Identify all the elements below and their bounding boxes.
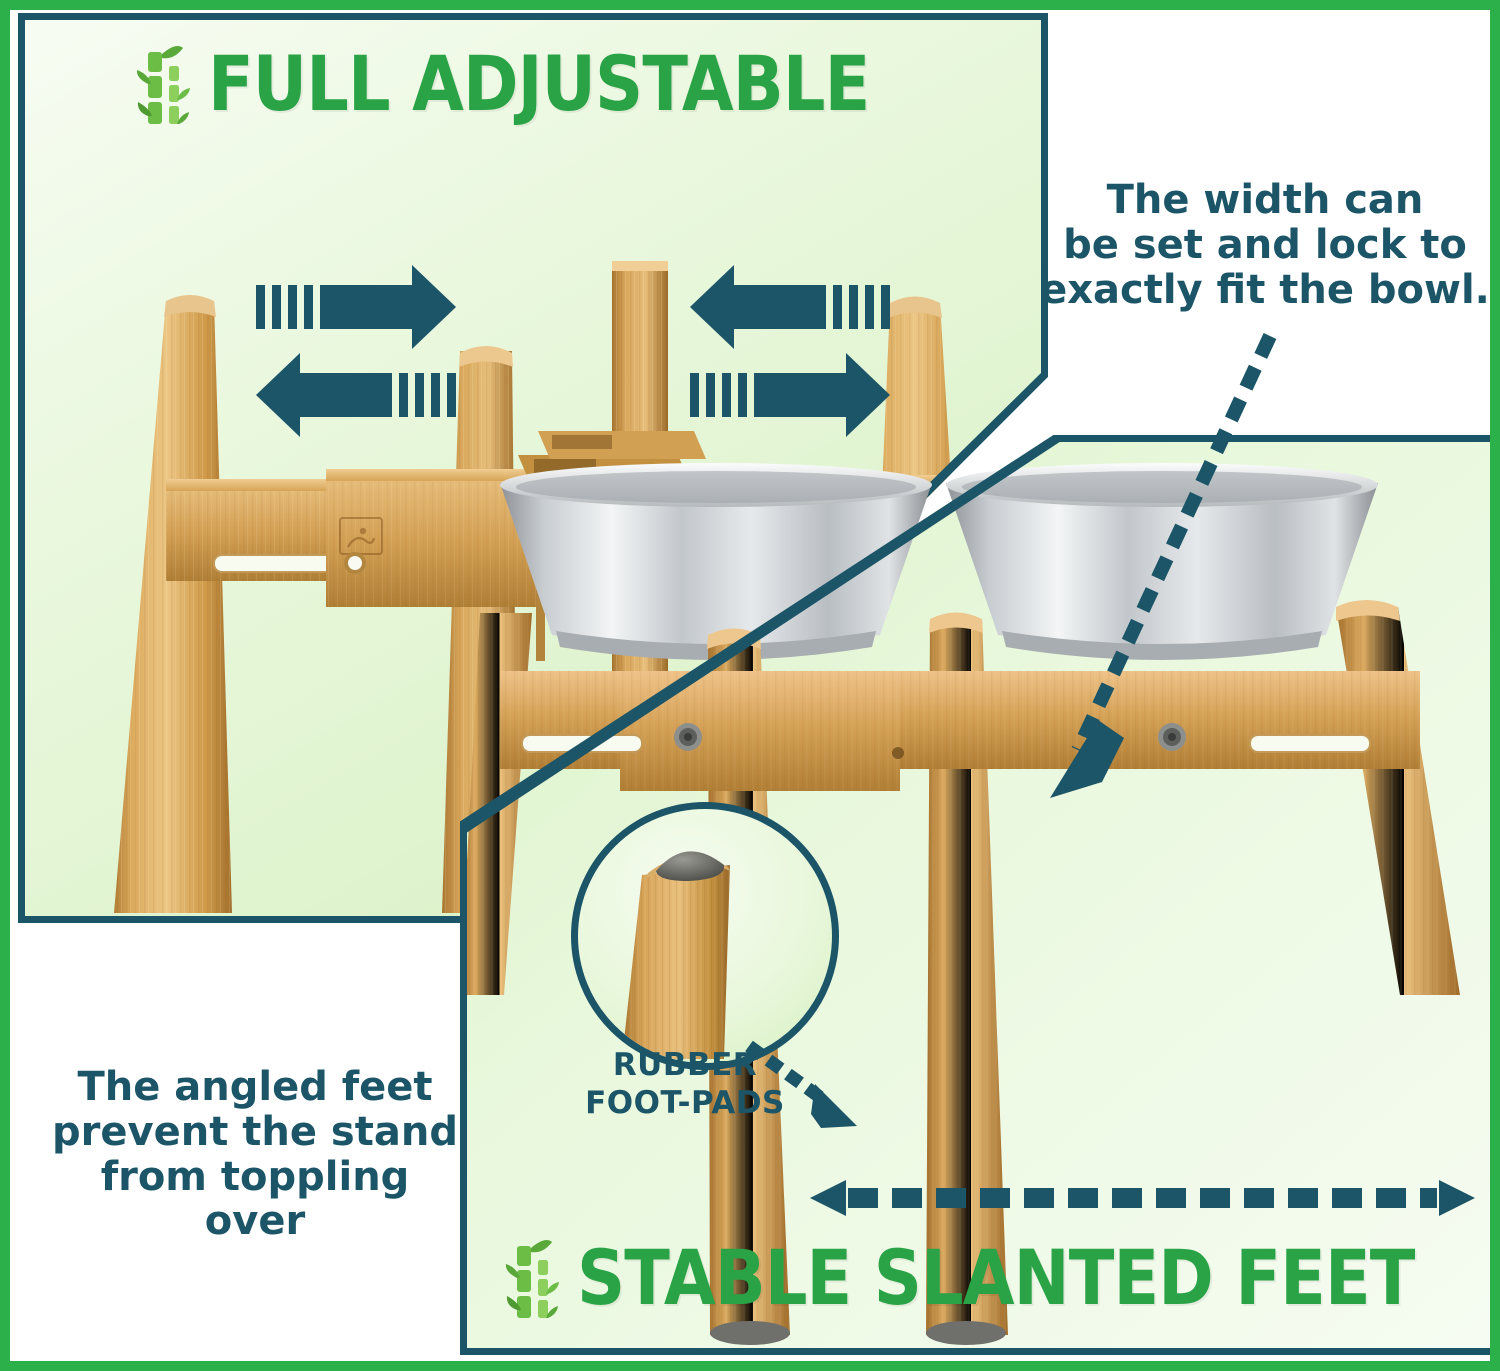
infographic-canvas: FULL ADJUSTABLE ST	[0, 0, 1500, 1371]
headline-text: STABLE SLANTED FEET	[577, 1242, 1415, 1314]
adjust-arrow-bottom-left	[256, 353, 456, 437]
bamboo-icon	[136, 38, 192, 130]
adjust-arrow-top-left	[256, 265, 456, 349]
arrow-shaft	[320, 285, 412, 329]
headline-full-adjustable: FULL ADJUSTABLE	[136, 38, 960, 130]
arrow-head-right-icon	[846, 353, 890, 437]
callout-angled-feet: The angled feet prevent the stand from t…	[45, 1065, 465, 1244]
arrow-dashes	[256, 285, 313, 329]
arrow-shaft	[754, 373, 846, 417]
arrow-head-left-icon	[690, 265, 734, 349]
arrow-dashes	[399, 373, 456, 417]
adjust-arrow-bottom-right	[690, 353, 890, 437]
callout-width-lock: The width can be set and lock to exactly…	[1030, 178, 1500, 312]
adjust-arrow-top-right	[690, 265, 890, 349]
headline-text: FULL ADJUSTABLE	[208, 48, 869, 120]
rubber-pad-pointer-arrow	[745, 1040, 875, 1140]
stand-width-arrow	[810, 1178, 1475, 1218]
arrow-head-right-icon	[412, 265, 456, 349]
headline-stable-slanted-feet: STABLE SLANTED FEET	[505, 1232, 1500, 1324]
inset-rubber-foot-pad	[571, 802, 839, 1070]
bamboo-icon	[505, 1232, 561, 1324]
arrow-dashes	[833, 285, 890, 329]
arrow-dashes	[690, 373, 747, 417]
arrow-shaft	[734, 285, 826, 329]
arrow-head-left-icon	[256, 353, 300, 437]
arrow-shaft	[300, 373, 392, 417]
lock-screw-pointer-arrow	[1020, 330, 1290, 810]
locking-screw-left	[674, 723, 702, 751]
